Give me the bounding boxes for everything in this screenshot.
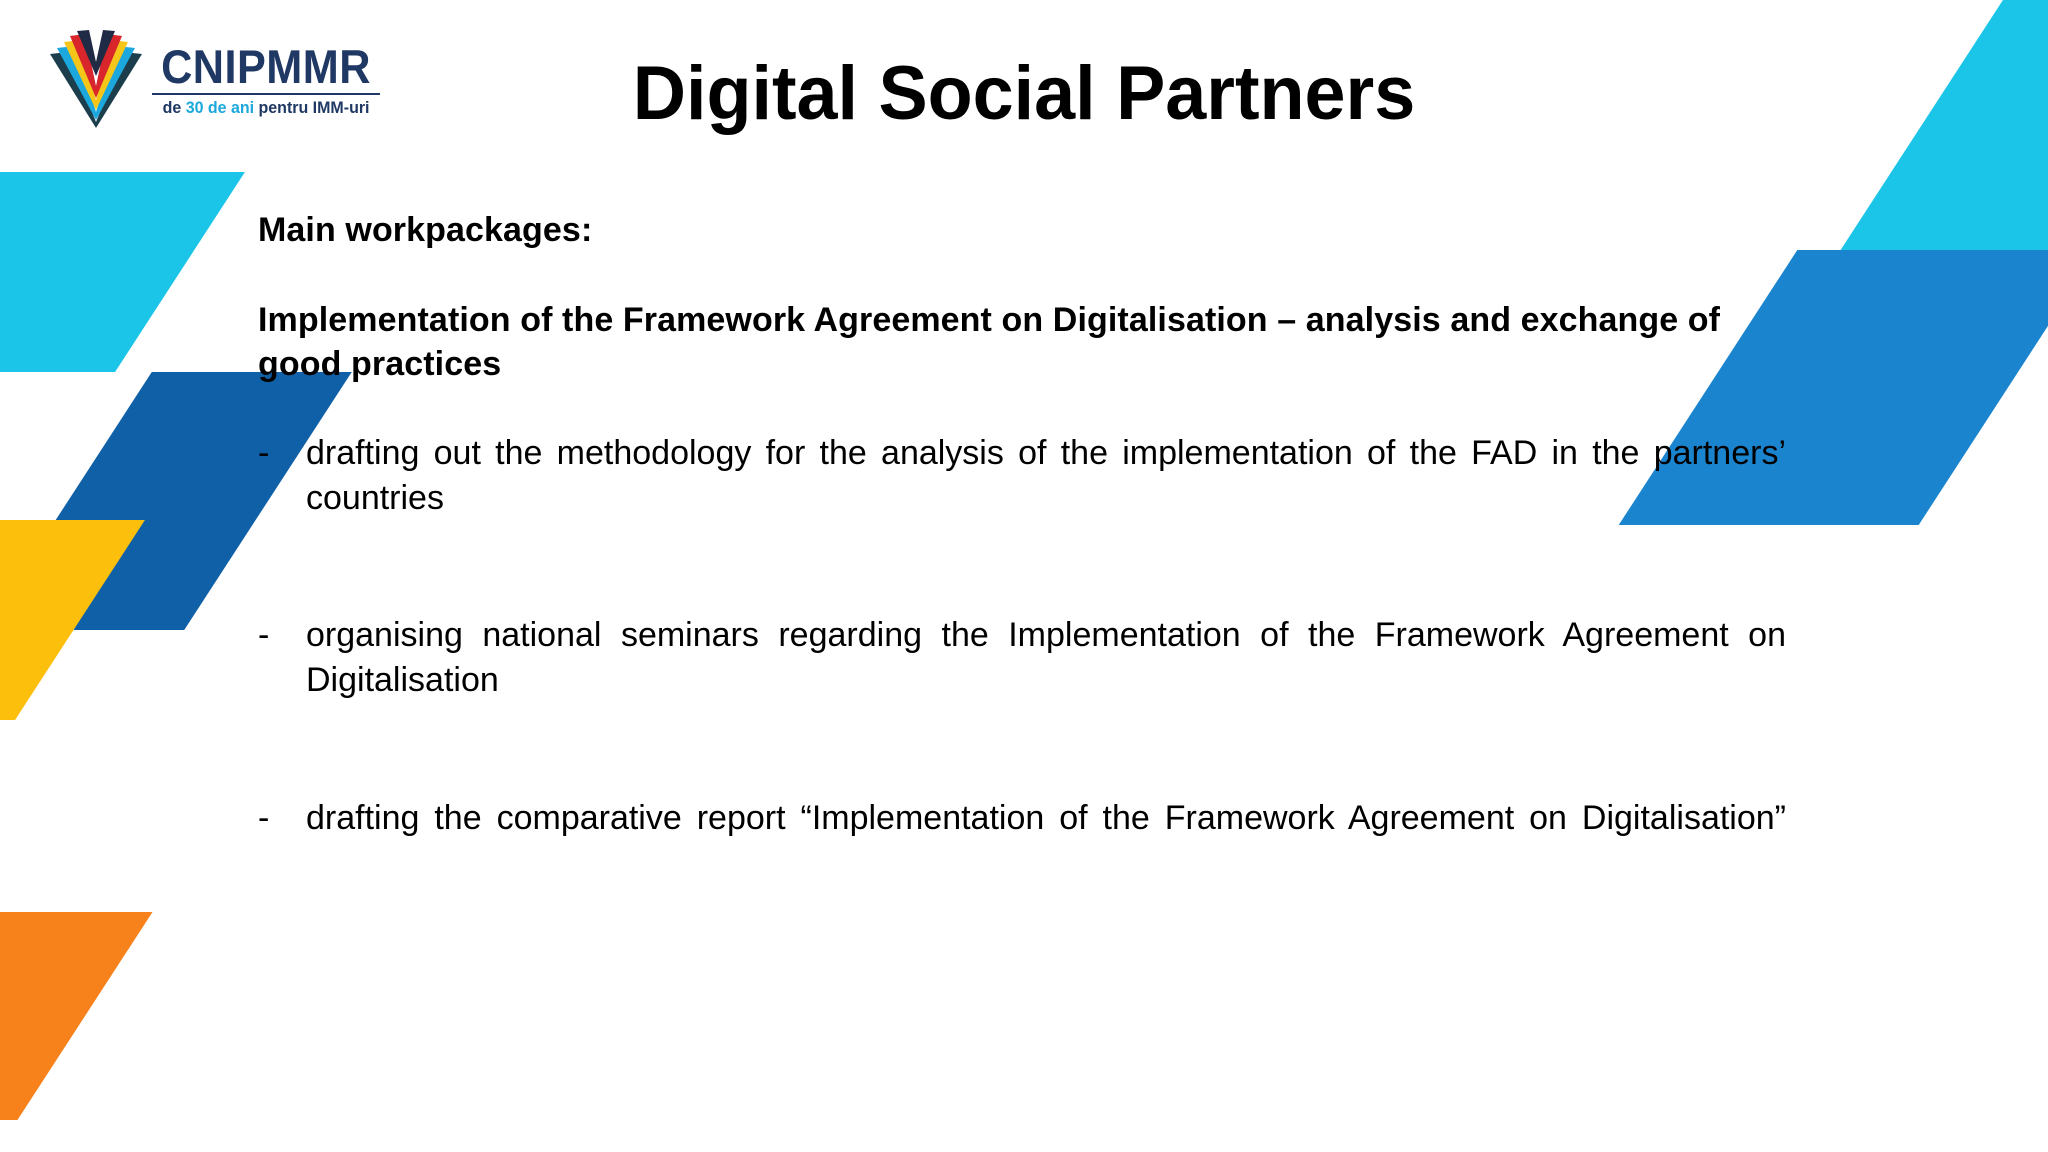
list-item-label: drafting out the methodology for the ana… xyxy=(306,431,1786,567)
decoration-parallelogram-orange-left xyxy=(0,912,153,1120)
bullet-marker-icon: - xyxy=(258,796,306,841)
list-item: - organising national seminars regarding… xyxy=(258,613,1786,749)
lead-heading-implementation: Implementation of the Framework Agreemen… xyxy=(258,298,1786,386)
bullet-list: - drafting out the methodology for the a… xyxy=(258,431,1786,887)
list-item: - drafting the comparative report “Imple… xyxy=(258,796,1786,886)
decoration-parallelogram-cyan-left xyxy=(0,172,245,372)
slide-body: Main workpackages: Implementation of the… xyxy=(258,208,1786,886)
list-item: - drafting out the methodology for the a… xyxy=(258,431,1786,567)
list-item-label: drafting the comparative report “Impleme… xyxy=(306,796,1786,886)
list-item-label: organising national seminars regarding t… xyxy=(306,613,1786,749)
lead-heading-workpackages: Main workpackages: xyxy=(258,208,1786,252)
page-title: Digital Social Partners xyxy=(31,54,2018,134)
decoration-parallelogram-yellow-left xyxy=(0,520,145,720)
bullet-marker-icon: - xyxy=(258,613,306,658)
slide-canvas: CNIPMMR de 30 de ani pentru IMM-uri Digi… xyxy=(0,0,2048,1152)
bullet-marker-icon: - xyxy=(258,431,306,476)
